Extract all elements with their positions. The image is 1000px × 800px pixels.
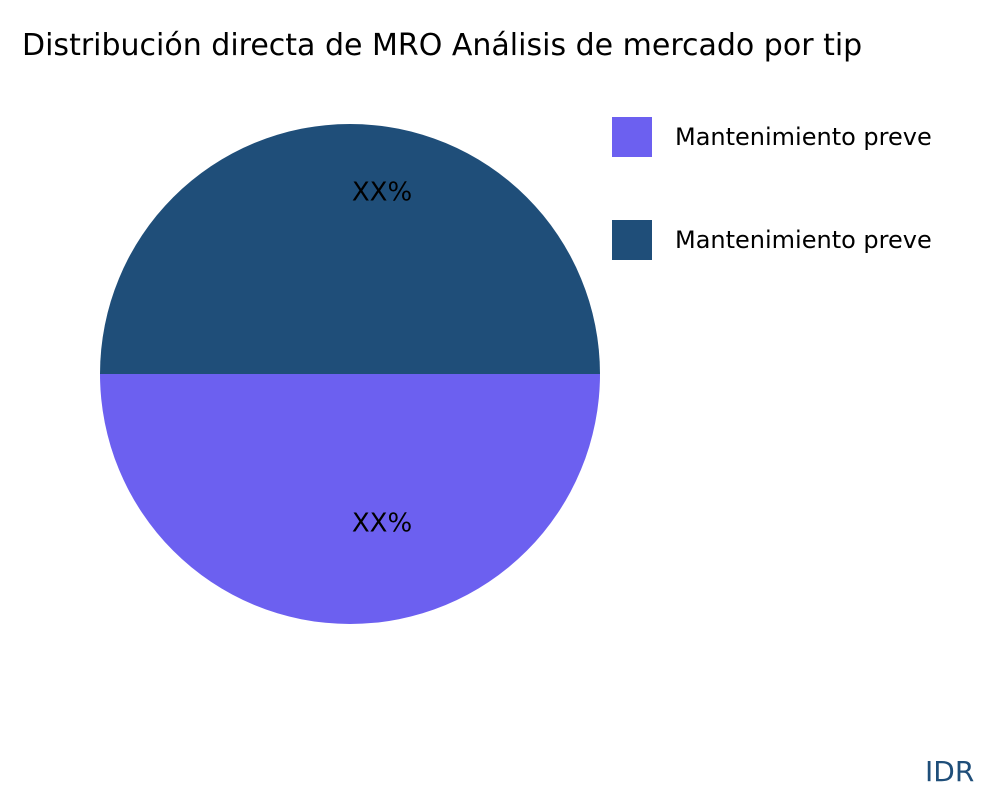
- watermark-label: IDR: [925, 755, 974, 789]
- legend-item-1[interactable]: Mantenimiento preve: [612, 220, 1000, 260]
- page-title: Distribución directa de MRO Análisis de …: [22, 26, 862, 66]
- pie-slice-top-label: XX%: [352, 178, 412, 208]
- pie-svg: XX% XX%: [100, 124, 600, 624]
- legend-item-0[interactable]: Mantenimiento preve: [612, 117, 1000, 157]
- legend-swatch-icon-0: [612, 117, 652, 157]
- pie-slice-bottom[interactable]: [100, 374, 600, 624]
- pie-slice-bottom-label: XX%: [352, 509, 412, 539]
- chart-canvas: Distribución directa de MRO Análisis de …: [0, 0, 1000, 800]
- legend-label-0: Mantenimiento preve: [675, 117, 932, 157]
- pie-chart: XX% XX%: [100, 124, 600, 624]
- legend-label-1: Mantenimiento preve: [675, 220, 932, 260]
- legend-swatch-icon-1: [612, 220, 652, 260]
- pie-slice-top[interactable]: [100, 124, 600, 374]
- legend: Mantenimiento preve Mantenimiento preve: [612, 117, 1000, 323]
